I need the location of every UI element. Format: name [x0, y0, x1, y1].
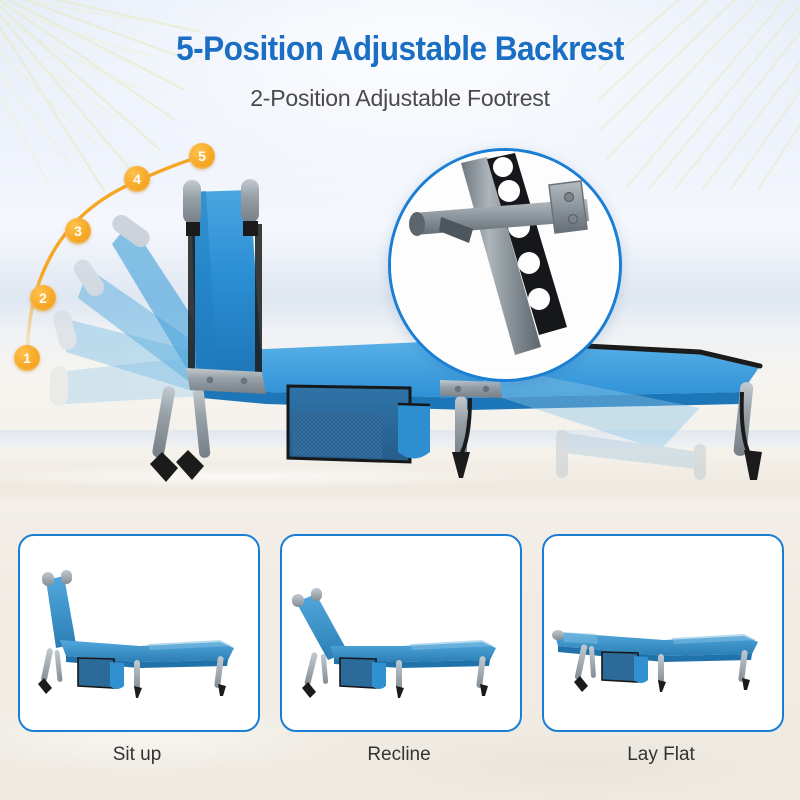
position-marker-1[interactable]: 1 — [14, 345, 40, 371]
mesh-pocket — [292, 412, 382, 458]
product-infographic: 5-Position Adjustable Backrest 2-Positio… — [0, 0, 800, 800]
notch-mechanism-inset — [388, 148, 622, 382]
hero-scene: 5-Position Adjustable Backrest 2-Positio… — [0, 0, 800, 516]
cup-holder — [398, 404, 430, 459]
caption-lay-flat: Lay Flat — [542, 744, 780, 766]
position-arc: 1 2 3 4 5 — [0, 130, 320, 390]
position-marker-4[interactable]: 4 — [124, 166, 150, 192]
position-marker-5[interactable]: 5 — [189, 143, 215, 169]
caption-sit-up: Sit up — [18, 744, 256, 766]
position-marker-2[interactable]: 2 — [30, 285, 56, 311]
position-panels-section: Sit up Recline Lay Flat — [0, 500, 800, 800]
panel-recline[interactable] — [280, 534, 522, 732]
panel-sit-up[interactable] — [18, 534, 260, 732]
position-marker-3[interactable]: 3 — [65, 218, 91, 244]
panel-lay-flat[interactable] — [542, 534, 784, 732]
caption-recline: Recline — [280, 744, 518, 766]
